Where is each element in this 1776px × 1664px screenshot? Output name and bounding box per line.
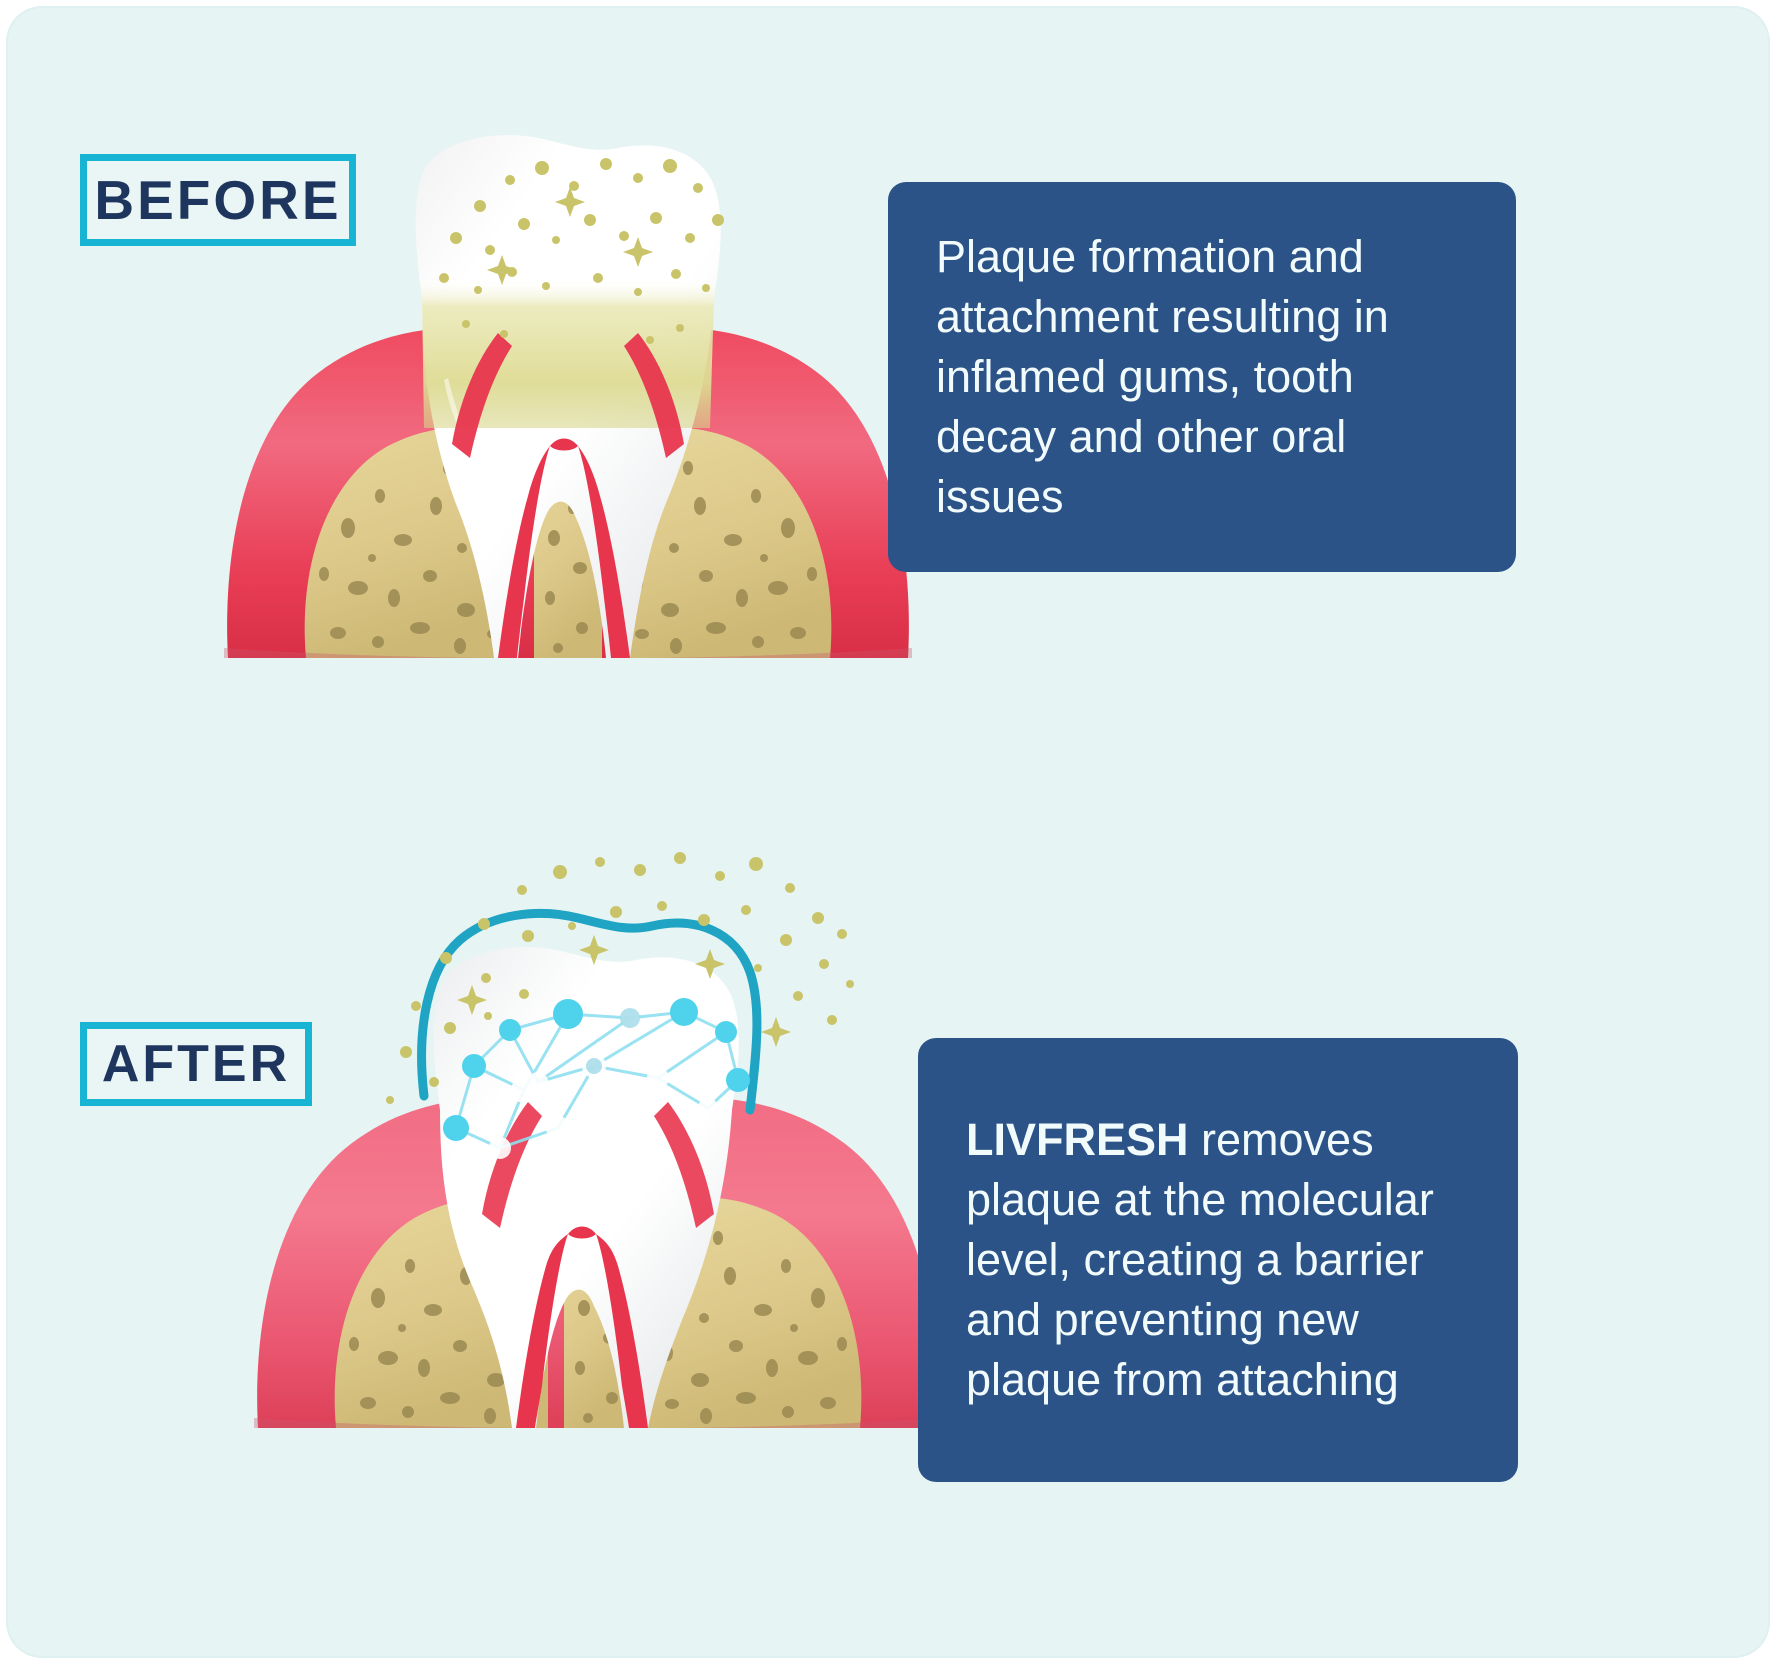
after-panel-text: LIVFRESH removes plaque at the molecular…: [966, 1110, 1492, 1409]
after-info-panel: LIVFRESH removes plaque at the molecular…: [918, 1038, 1518, 1482]
before-panel-text: Plaque formation and attachment resultin…: [936, 227, 1482, 526]
before-info-panel: Plaque formation and attachment resultin…: [888, 182, 1516, 572]
infographic-card: BEFORE: [8, 8, 1768, 1656]
after-tooth-illustration: [238, 828, 978, 1428]
before-tooth-illustration: [198, 128, 938, 658]
after-panel-brand: LIVFRESH: [966, 1114, 1189, 1165]
